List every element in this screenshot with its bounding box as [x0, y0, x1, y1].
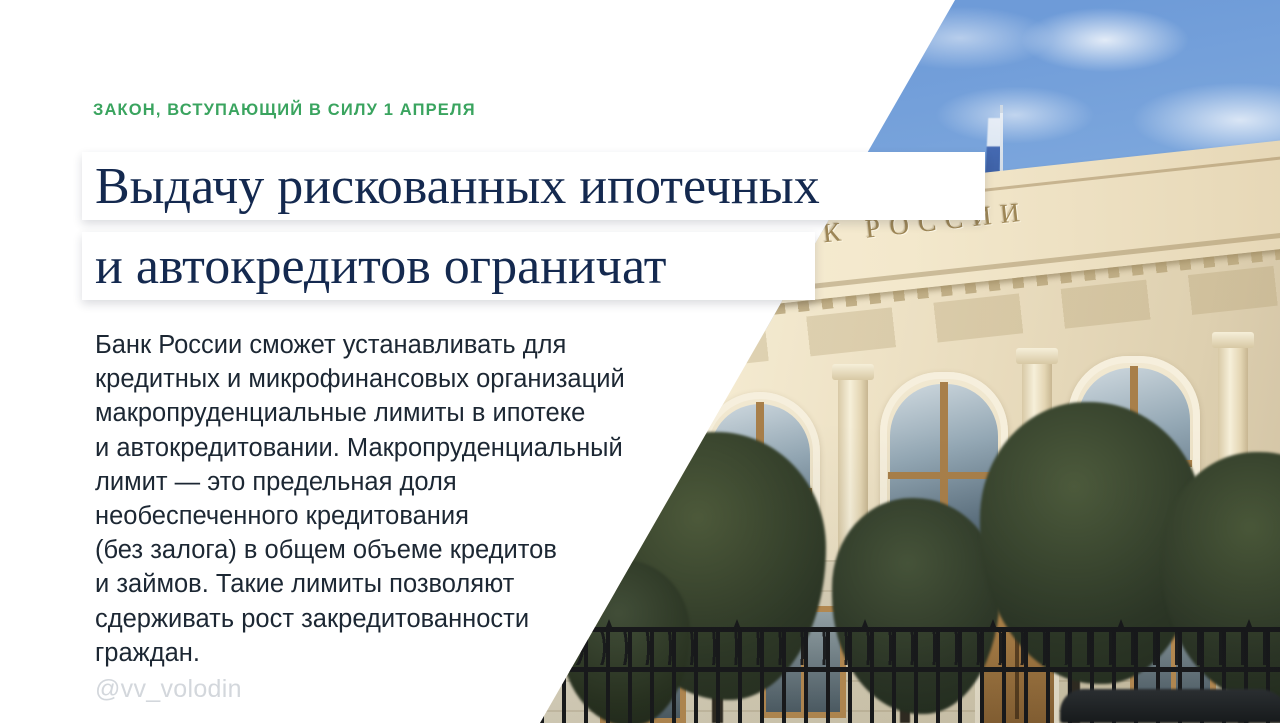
- fence-finial: [1244, 619, 1254, 632]
- window-mullion: [888, 472, 1000, 479]
- fence-finial: [860, 619, 870, 632]
- infographic-card: БАНК РОССИИ: [0, 0, 1280, 723]
- fence-finial: [732, 619, 742, 632]
- headline-line-2: и автокредитов ограничат: [82, 232, 815, 300]
- headline-line-1: Выдачу рискованных ипотечных: [82, 152, 985, 220]
- kicker-label: ЗАКОН, ВСТУПАЮЩИЙ В СИЛУ 1 АПРЕЛЯ: [93, 101, 476, 120]
- author-handle-watermark: @vv_volodin: [95, 675, 242, 704]
- fence-finial: [988, 619, 998, 632]
- body-text: Банк России сможет устанавливать для кре…: [95, 328, 705, 670]
- fence-finial: [1116, 619, 1126, 632]
- parked-car: [1060, 689, 1280, 723]
